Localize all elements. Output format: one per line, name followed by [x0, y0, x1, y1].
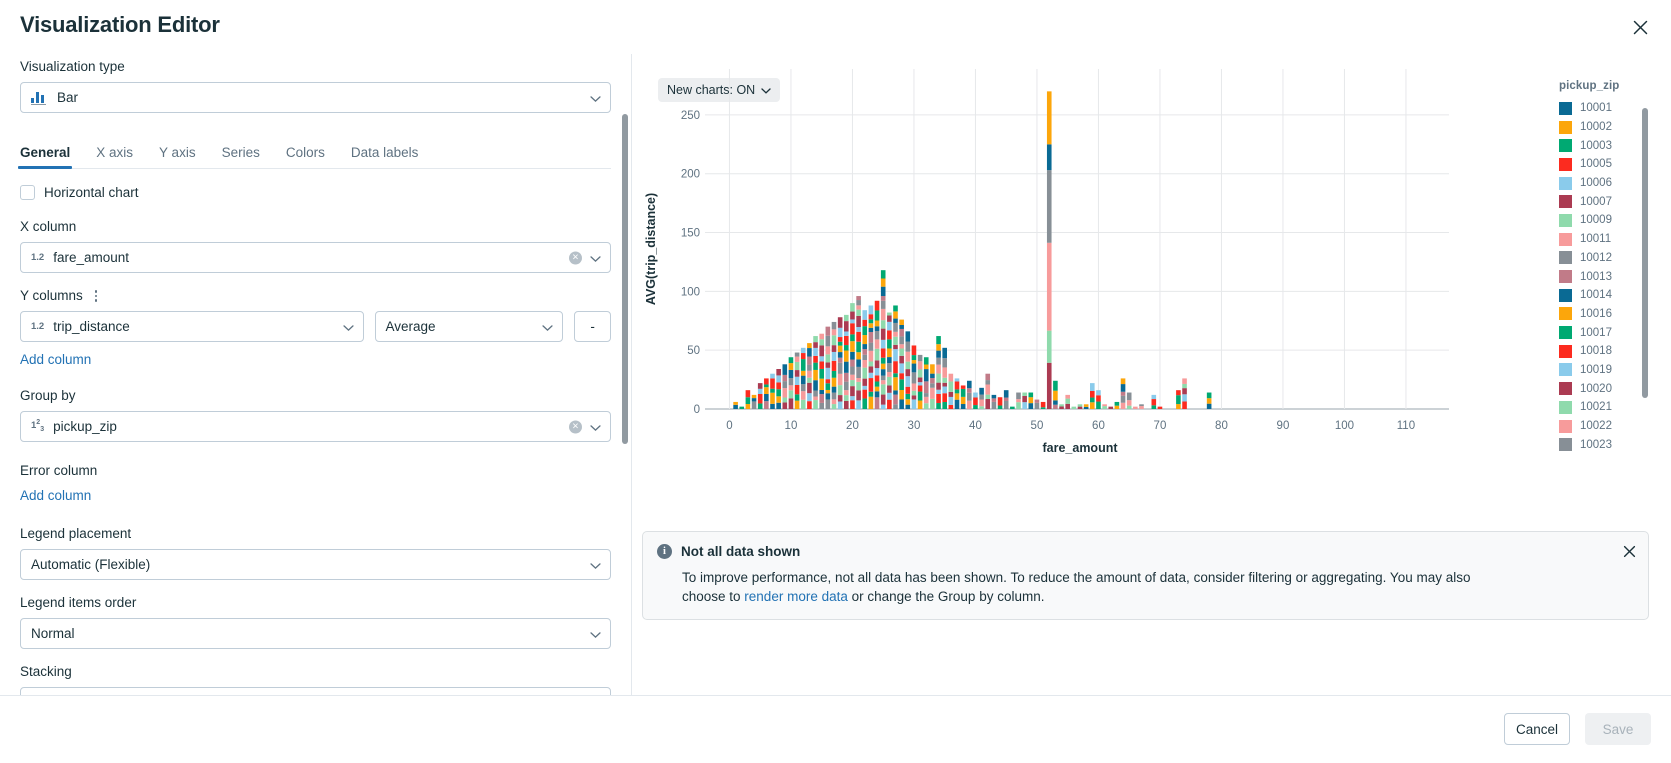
bar-segment: [906, 342, 911, 352]
legend-item[interactable]: 10012: [1559, 249, 1649, 268]
x-tick-label: 0: [726, 420, 732, 432]
bar-segment: [1004, 398, 1009, 401]
bar-segment: [942, 348, 947, 358]
bar-segment: [973, 397, 978, 405]
bar-segment: [838, 363, 843, 374]
legend-order-value: Normal: [31, 626, 75, 641]
y-columns-label: Y columns: [20, 287, 83, 305]
bar-segment: [887, 385, 892, 392]
legend-item-label: 10014: [1580, 289, 1612, 301]
bar-segment: [881, 364, 886, 370]
legend-item[interactable]: 10007: [1559, 192, 1649, 211]
bar-segment: [906, 399, 911, 404]
bar-segment: [1016, 402, 1021, 409]
settings-panel-scrollbar[interactable]: [622, 114, 628, 444]
legend-item[interactable]: 10022: [1559, 417, 1649, 436]
x-tick-label: 100: [1335, 420, 1354, 432]
legend-item[interactable]: 10006: [1559, 174, 1649, 193]
bar-segment: [1096, 402, 1101, 409]
bar-segment: [764, 401, 769, 409]
horizontal-chart-row: Horizontal chart: [20, 185, 611, 200]
viz-type-select[interactable]: Bar: [20, 82, 611, 113]
bar-segment: [789, 398, 794, 409]
viz-type-value: Bar: [57, 90, 78, 105]
bar-segment: [887, 315, 892, 321]
bar-segment: [813, 336, 818, 342]
bar-segment: [992, 402, 997, 409]
bar-segment: [862, 349, 867, 355]
clear-icon[interactable]: [569, 420, 582, 433]
tab-general[interactable]: General: [20, 145, 70, 168]
legend-placement-block: Legend placement Automatic (Flexible): [20, 525, 611, 580]
viz-type-label: Visualization type: [20, 58, 611, 76]
legend-swatch: [1559, 251, 1572, 264]
bar-segment: [850, 352, 855, 360]
legend-item-label: 10013: [1580, 271, 1612, 283]
bar-segment: [912, 395, 917, 399]
bar-segment: [936, 394, 941, 403]
close-icon[interactable]: [1629, 16, 1651, 38]
y-aggregation-select[interactable]: Average: [375, 311, 564, 342]
bar-segment: [1004, 390, 1009, 397]
bar-segment: [893, 323, 898, 332]
bar-segment: [1004, 401, 1009, 409]
bar-segment: [869, 323, 874, 328]
bar-segment: [1207, 404, 1212, 409]
visualization-editor-modal: Visualization Editor Visualization type …: [0, 0, 1671, 763]
add-y-column-link[interactable]: Add column: [20, 352, 91, 367]
bar-segment: [783, 381, 788, 388]
bar-segment: [899, 329, 904, 336]
bar-segment: [985, 380, 990, 384]
bar-segment: [733, 402, 738, 405]
bar-segment: [813, 348, 818, 356]
chevron-down-icon: [590, 626, 601, 641]
bar-segment: [758, 394, 763, 403]
bar-segment: [1010, 407, 1015, 409]
tab-x-axis[interactable]: X axis: [96, 145, 133, 168]
bar-segment: [979, 400, 984, 407]
bar-segment: [936, 374, 941, 383]
bar-segment: [795, 370, 800, 377]
bar-segment: [1096, 390, 1101, 395]
bar-segment: [1182, 378, 1187, 384]
kebab-menu-icon[interactable]: [91, 288, 102, 304]
bar-segment: [1152, 399, 1157, 405]
bar-segment: [1084, 407, 1089, 409]
bar-segment: [844, 390, 849, 395]
bar-segment: [930, 399, 935, 409]
bar-segment: [770, 389, 775, 393]
legend-item[interactable]: 10013: [1559, 267, 1649, 286]
legend-swatch: [1559, 307, 1572, 320]
legend-item-label: 10020: [1580, 383, 1612, 395]
bar-segment: [826, 327, 831, 336]
bar-segment: [826, 390, 831, 393]
tab-series[interactable]: Series: [222, 145, 260, 168]
bar-segment: [819, 403, 824, 409]
bar-segment: [869, 305, 874, 314]
bar-segment: [795, 401, 800, 409]
x-column-value: fare_amount: [53, 250, 129, 265]
legend-item[interactable]: 10002: [1559, 118, 1649, 137]
bar-segment: [881, 296, 886, 301]
bar-segment: [912, 372, 917, 383]
bar-segment: [862, 326, 867, 335]
bar-segment: [862, 398, 867, 409]
legend-item[interactable]: 10023: [1559, 435, 1649, 454]
bar-segment: [985, 384, 990, 394]
legend-swatch: [1559, 420, 1572, 433]
bar-segment: [844, 362, 849, 373]
remove-y-column-button[interactable]: -: [574, 311, 611, 342]
bar-segment: [973, 405, 978, 409]
bar-segment: [912, 364, 917, 373]
bar-segment: [881, 358, 886, 364]
bar-segment: [869, 366, 874, 372]
bar-segment: [770, 378, 775, 388]
group-by-block: Group by 123 pickup_zip: [20, 387, 611, 442]
bar-segment: [875, 301, 880, 311]
bar-segment: [813, 397, 818, 401]
bar-segment: [875, 375, 880, 381]
bar-segment: [942, 402, 947, 409]
bar-segment: [807, 365, 812, 371]
bar-segment: [862, 320, 867, 326]
bar-segment: [838, 346, 843, 352]
horizontal-chart-checkbox[interactable]: [20, 185, 35, 200]
bar-segment: [838, 385, 843, 395]
bar-segment: [1029, 403, 1034, 409]
bar-segment: [918, 385, 923, 391]
bar-segment: [844, 345, 849, 350]
bar-segment: [813, 370, 818, 380]
bar-segment: [832, 378, 837, 387]
group-by-value: pickup_zip: [53, 419, 117, 434]
bar-segment: [776, 389, 781, 396]
chevron-down-icon: [343, 319, 354, 334]
cancel-button[interactable]: Cancel: [1504, 713, 1570, 745]
bar-segment: [795, 357, 800, 362]
legend-item-label: 10002: [1580, 121, 1612, 133]
bar-segment: [887, 313, 892, 316]
bar-segment: [1121, 396, 1126, 403]
legend-item-label: 10006: [1580, 177, 1612, 189]
bar-segment: [955, 389, 960, 393]
bar-segment: [850, 396, 855, 400]
bar-segment: [875, 391, 880, 397]
bar-segment: [856, 390, 861, 400]
bar-segment: [819, 334, 824, 340]
bar-segment: [924, 365, 929, 370]
bar-segment: [862, 390, 867, 399]
x-tick-label: 110: [1397, 420, 1415, 432]
legend-item[interactable]: 10020: [1559, 379, 1649, 398]
bar-segment: [936, 351, 941, 358]
bar-segment: [850, 341, 855, 352]
viz-type-block: Visualization type Bar: [20, 58, 611, 113]
legend-item-label: 10018: [1580, 345, 1612, 357]
bar-segment: [838, 342, 843, 346]
bar-segment: [875, 349, 880, 361]
bar-segment: [801, 376, 806, 385]
bar-segment: [912, 399, 917, 409]
bar-segment: [838, 337, 843, 342]
bar-segment: [826, 383, 831, 390]
render-more-data-link[interactable]: render more data: [744, 589, 848, 604]
bar-segment: [795, 394, 800, 400]
legend-swatch: [1559, 382, 1572, 395]
add-error-column-link[interactable]: Add column: [20, 488, 91, 503]
bar-segment: [1102, 404, 1107, 406]
bar-segment: [844, 351, 849, 362]
bar-segment: [838, 401, 843, 409]
bar-segment: [783, 402, 788, 409]
bar-segment: [1090, 398, 1095, 403]
y-tick-label: 250: [681, 110, 700, 122]
bar-segment: [961, 404, 966, 409]
bar-segment: [936, 403, 941, 409]
bar-segment: [949, 397, 954, 405]
legend-item[interactable]: 10005: [1559, 155, 1649, 174]
x-column-label: X column: [20, 218, 611, 236]
bar-segment: [875, 339, 880, 348]
bar-segment: [881, 270, 886, 278]
y-column-select[interactable]: 1.2 trip_distance: [20, 311, 364, 342]
bar-segment: [850, 380, 855, 386]
bar-segment: [1053, 381, 1058, 391]
alert-header: i Not all data shown: [657, 544, 1634, 559]
bar-segment: [789, 370, 794, 378]
bar-segment: [1115, 402, 1120, 406]
x-column-select[interactable]: 1.2 fare_amount: [20, 242, 611, 273]
bar-segment: [985, 399, 990, 409]
bar-segment: [856, 378, 861, 382]
bar-segment: [826, 362, 831, 368]
error-column-block: Error column Add column: [20, 462, 611, 505]
y-tick-label: 0: [694, 404, 700, 416]
bar-segment: [875, 387, 880, 392]
tab-colors[interactable]: Colors: [286, 145, 325, 168]
horizontal-chart-label: Horizontal chart: [44, 185, 139, 200]
bar-segment: [881, 380, 886, 384]
bar-segment: [764, 394, 769, 401]
bar-segment: [807, 348, 812, 356]
legend-swatch: [1559, 214, 1572, 227]
tab-data-labels[interactable]: Data labels: [351, 145, 419, 168]
bar-segment: [924, 403, 929, 409]
chevron-down-icon: [590, 557, 601, 572]
bar-segment: [862, 368, 867, 379]
bar-segment: [918, 401, 923, 409]
legend-item[interactable]: 10016: [1559, 305, 1649, 324]
bar-segment: [875, 321, 880, 327]
bar-segment: [850, 375, 855, 380]
x-tick-label: 40: [969, 420, 982, 432]
bar-segment: [1041, 407, 1046, 409]
legend-order-label: Legend items order: [20, 594, 611, 612]
bar-segment: [881, 329, 886, 340]
alert-text-after: or change the Group by column.: [848, 589, 1045, 604]
legend-item-label: 10016: [1580, 308, 1612, 320]
legend-item[interactable]: 10001: [1559, 99, 1649, 118]
legend-item-label: 10017: [1580, 327, 1612, 339]
bar-segment: [881, 376, 886, 381]
page-title: Visualization Editor: [20, 12, 220, 38]
bar-segment: [856, 327, 861, 332]
bar-segment: [1127, 400, 1132, 405]
bar-segment: [1016, 399, 1021, 402]
bar-segment: [764, 387, 769, 394]
y-tick-label: 200: [681, 169, 700, 181]
legend-item-label: 10019: [1580, 364, 1612, 376]
tab-y-axis[interactable]: Y axis: [159, 145, 196, 168]
bar-segment: [869, 314, 874, 319]
bar-segment: [783, 375, 788, 381]
bar-segment: [1065, 399, 1070, 404]
legend-item-label: 10005: [1580, 158, 1612, 170]
clear-icon[interactable]: [569, 251, 582, 264]
bar-segment: [1084, 404, 1089, 407]
bar-segment: [807, 357, 812, 365]
bar-segment: [881, 301, 886, 309]
bar-segment: [746, 397, 751, 404]
legend-item[interactable]: 10003: [1559, 136, 1649, 155]
bar-segment: [924, 357, 929, 364]
bar-segment: [783, 398, 788, 403]
save-button[interactable]: Save: [1585, 713, 1651, 745]
bar-segment: [862, 355, 867, 360]
bar-segment: [1065, 404, 1070, 409]
bar-segment: [893, 305, 898, 311]
legend-placement-label: Legend placement: [20, 525, 611, 543]
legend-swatch: [1559, 139, 1572, 152]
bar-segment: [899, 356, 904, 364]
bar-segment: [881, 384, 886, 394]
bar-segment: [801, 348, 806, 353]
legend-items: 1000110002100031000510006100071000910011…: [1559, 99, 1649, 454]
x-column-block: X column 1.2 fare_amount: [20, 218, 611, 273]
bar-segment: [949, 405, 954, 409]
bar-segment: [856, 382, 861, 390]
chevron-down-icon: [590, 419, 601, 434]
bar-segment: [783, 364, 788, 375]
legend-order-select[interactable]: Normal: [20, 618, 611, 649]
bar-segment: [813, 363, 818, 370]
bar-segment: [832, 361, 837, 371]
legend-item[interactable]: 10019: [1559, 361, 1649, 380]
bar-segment: [992, 398, 997, 402]
legend-swatch: [1559, 102, 1572, 115]
info-icon: i: [657, 544, 672, 559]
bar-segment: [899, 363, 904, 373]
legend-item[interactable]: 10021: [1559, 398, 1649, 417]
bar-segment: [899, 325, 904, 329]
error-column-label: Error column: [20, 462, 611, 480]
legend-item[interactable]: 10011: [1559, 230, 1649, 249]
alert-close-icon[interactable]: [1620, 542, 1638, 560]
legend-swatch: [1559, 121, 1572, 134]
x-tick-label: 20: [846, 420, 859, 432]
bar-segment: [776, 403, 781, 409]
bar-segment: [764, 384, 769, 387]
legend-item[interactable]: 10018: [1559, 342, 1649, 361]
bar-segment: [1182, 401, 1187, 409]
bar-segment: [850, 319, 855, 323]
bar-segment: [1065, 395, 1070, 399]
bar-segment: [924, 381, 929, 393]
bar-segment: [850, 367, 855, 375]
bar-segment: [832, 371, 837, 378]
bar-segment: [850, 323, 855, 334]
bar-segment: [770, 404, 775, 409]
legend-swatch: [1559, 177, 1572, 190]
bar-segment: [856, 316, 861, 327]
bar-segment: [862, 310, 867, 320]
group-by-select[interactable]: 123 pickup_zip: [20, 411, 611, 442]
bar-segment: [813, 356, 818, 363]
bar-segment: [924, 393, 929, 397]
legend-item[interactable]: 10017: [1559, 323, 1649, 342]
legend-scrollbar[interactable]: [1642, 108, 1648, 398]
bar-segment: [850, 360, 855, 367]
bar-segment: [783, 388, 788, 397]
bar-segment: [869, 397, 874, 409]
bar-segment: [862, 379, 867, 386]
bar-segment: [1108, 407, 1113, 409]
legend-swatch: [1559, 363, 1572, 376]
bar-segment: [881, 278, 886, 286]
bar-segment: [1176, 404, 1181, 409]
bar-segment: [832, 322, 837, 329]
bar-segment: [979, 388, 984, 395]
bar-segment: [961, 397, 966, 404]
bar-segment: [1072, 407, 1077, 409]
legend-item-label: 10001: [1580, 102, 1612, 114]
legend-swatch: [1559, 233, 1572, 246]
bar-segment: [893, 349, 898, 361]
bar-segment: [789, 385, 794, 390]
bar-segment: [899, 320, 904, 325]
bar-segment: [961, 389, 966, 397]
x-tick-label: 90: [1277, 420, 1290, 432]
bar-segment: [789, 390, 794, 398]
bar-segment: [1047, 363, 1052, 409]
legend-item[interactable]: 10014: [1559, 286, 1649, 305]
bar-segment: [1047, 331, 1052, 363]
bar-segment: [856, 310, 861, 316]
bar-segment: [869, 373, 874, 378]
bar-segment: [906, 369, 911, 376]
bar-segment: [1053, 400, 1058, 404]
bar-segment: [887, 400, 892, 409]
bar-segment: [887, 339, 892, 348]
bar-segment: [1035, 400, 1040, 403]
bar-segment: [881, 309, 886, 320]
bar-segment: [789, 378, 794, 385]
y-tick-label: 50: [687, 345, 700, 357]
bar-segment: [893, 373, 898, 377]
bar-segment: [826, 336, 831, 347]
bar-segment: [936, 358, 941, 365]
bar-segment: [795, 377, 800, 385]
bar-segment: [801, 371, 806, 376]
bar-segment: [1121, 392, 1126, 396]
legend-placement-select[interactable]: Automatic (Flexible): [20, 549, 611, 580]
bar-segment: [918, 378, 923, 383]
legend-item[interactable]: 10009: [1559, 211, 1649, 230]
bar-segment: [838, 358, 843, 363]
